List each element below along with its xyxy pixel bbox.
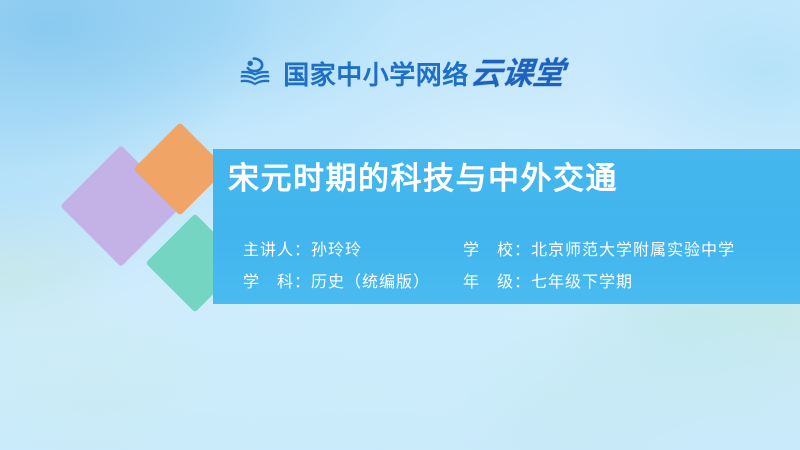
meta-subject: 学 科：历史（统编版） bbox=[243, 266, 463, 298]
page-title: 宋元时期的科技与中外交通 bbox=[228, 161, 788, 198]
meta-presenter: 主讲人：孙玲玲 bbox=[243, 234, 463, 266]
book-wave-icon bbox=[236, 55, 274, 93]
meta-row-subject: 学 科：历史（统编版）年 级：七年级下学期 bbox=[243, 266, 788, 298]
logo-text-group: 国家中小学网络 云课堂 bbox=[283, 59, 564, 90]
logo-main-text: 国家中小学网络 bbox=[283, 63, 469, 89]
platform-logo: 国家中小学网络 云课堂 bbox=[0, 55, 800, 93]
slide-canvas: 国家中小学网络 云课堂 宋元时期的科技与中外交通 主讲人：孙玲玲学 校：北京师范… bbox=[0, 0, 800, 450]
lesson-meta: 主讲人：孙玲玲学 校：北京师范大学附属实验中学 学 科：历史（统编版）年 级：七… bbox=[243, 234, 788, 298]
meta-grade: 年 级：七年级下学期 bbox=[463, 266, 633, 298]
meta-school: 学 校：北京师范大学附属实验中学 bbox=[463, 234, 735, 266]
meta-row-presenter: 主讲人：孙玲玲学 校：北京师范大学附属实验中学 bbox=[243, 234, 788, 266]
logo-accent-text: 云课堂 bbox=[469, 59, 565, 90]
